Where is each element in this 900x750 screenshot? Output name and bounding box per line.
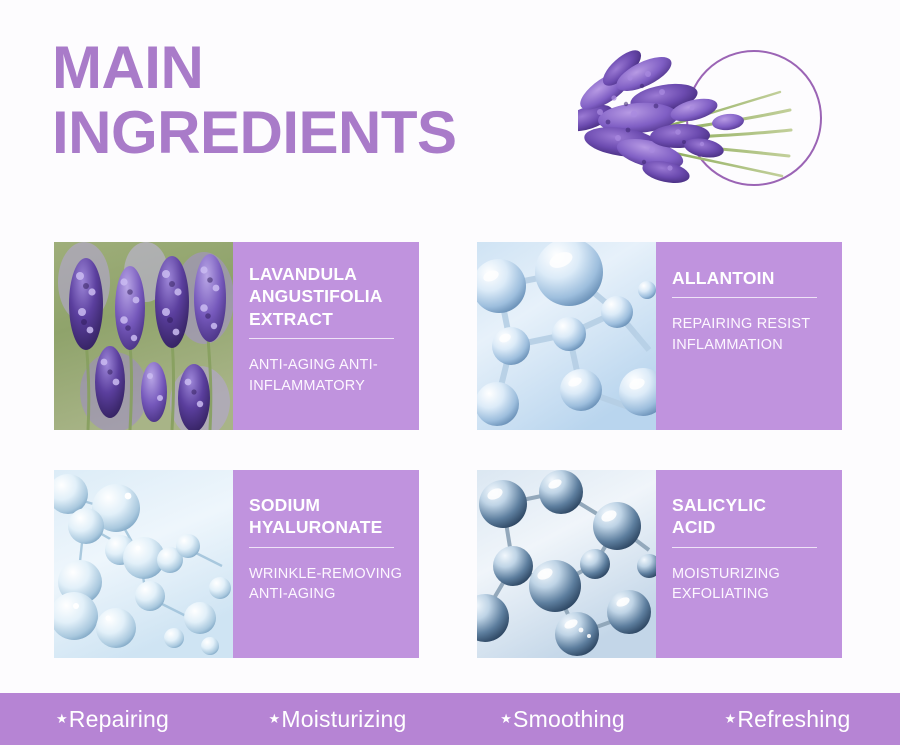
footer-benefit-smoothing: ★ Smoothing [450,706,675,733]
benefits-footer-bar: ★ Repairing ★ Moisturizing ★ Smoothing ★… [0,693,900,745]
footer-benefit-label: Refreshing [737,706,850,733]
ingredient-name: ALLANTOIN [672,267,826,289]
ingredient-card-body: SALICYLIC ACID MOISTURIZING EXFOLIATING [656,470,842,658]
ingredient-benefits: WRINKLE-REMOVING ANTI-AGING [249,564,403,605]
footer-benefit-label: Moisturizing [281,706,406,733]
divider [672,547,817,548]
star-icon: ★ [724,711,736,727]
blue-molecule-photo [477,242,656,430]
lavender-field-photo [54,242,233,430]
star-icon: ★ [500,711,512,727]
footer-benefit-moisturizing: ★ Moisturizing [225,706,450,733]
footer-benefit-refreshing: ★ Refreshing [675,706,900,733]
ingredient-card-body: ALLANTOIN REPAIRING RESIST INFLAMMATION [656,242,842,430]
star-icon: ★ [56,711,68,727]
light-blue-molecule-photo [54,470,233,658]
divider [672,297,817,298]
ingredient-card-body: LAVANDULA ANGUSTIFOLIA EXTRACT ANTI-AGIN… [233,242,419,430]
ingredient-card[interactable]: ALLANTOIN REPAIRING RESIST INFLAMMATION [477,242,842,430]
footer-benefit-label: Smoothing [513,706,625,733]
ingredient-benefits: ANTI-AGING ANTI-INFLAMMATORY [249,355,403,396]
ingredient-card[interactable]: LAVANDULA ANGUSTIFOLIA EXTRACT ANTI-AGIN… [54,242,419,430]
ingredient-card[interactable]: SODIUM HYALURONATE WRINKLE-REMOVING ANTI… [54,470,419,658]
ingredient-card-body: SODIUM HYALURONATE WRINKLE-REMOVING ANTI… [233,470,419,658]
ingredient-benefits: MOISTURIZING EXFOLIATING [672,564,826,605]
ingredient-card-grid: LAVANDULA ANGUSTIFOLIA EXTRACT ANTI-AGIN… [54,242,846,670]
header: MAIN INGREDIENTS [0,0,900,228]
ingredient-benefits: REPAIRING RESIST INFLAMMATION [672,314,826,355]
ingredient-name: SODIUM HYALURONATE [249,494,403,539]
page-title: MAIN INGREDIENTS [52,36,572,166]
footer-benefit-repairing: ★ Repairing [0,706,225,733]
ingredient-card[interactable]: SALICYLIC ACID MOISTURIZING EXFOLIATING [477,470,842,658]
divider [249,547,394,548]
steel-blue-molecule-photo [477,470,656,658]
ingredient-name: SALICYLIC ACID [672,494,826,539]
divider [249,338,394,339]
star-icon: ★ [269,711,281,727]
header-artwork [578,38,838,213]
ingredient-name: LAVANDULA ANGUSTIFOLIA EXTRACT [249,263,403,330]
lavender-bouquet-image [578,44,793,204]
footer-benefit-label: Repairing [69,706,169,733]
